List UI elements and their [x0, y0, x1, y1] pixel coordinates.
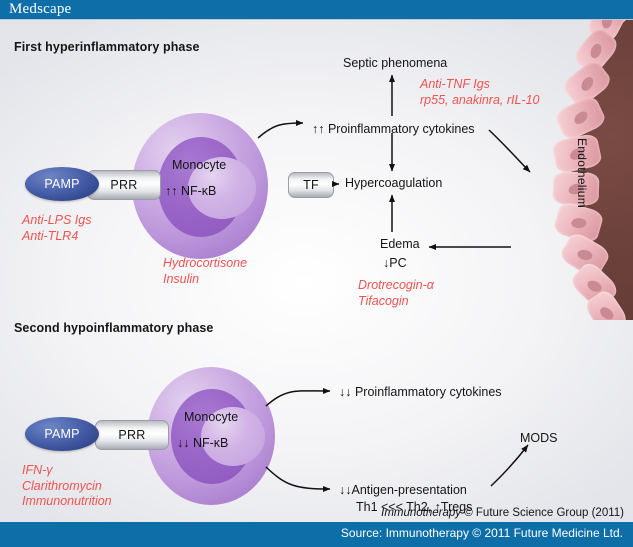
prr-receptor-phase2: PRR [95, 420, 169, 450]
protein-c-node: ↓PC [383, 256, 407, 270]
hypercoagulation-node: Hypercoagulation [345, 176, 442, 190]
tf-tissue-factor: TF [288, 172, 334, 198]
source-text: Source: Immunotherapy © 2011 Future Medi… [341, 526, 623, 540]
diagram-canvas: Endothelium First hyperinflammatory phas… [0, 19, 633, 524]
prr-label: PRR [110, 178, 137, 192]
proinflammatory-cytokines-node-phase1: ↑↑ Proinflammatory cytokines [312, 122, 475, 136]
endothelium-label: Endothelium [575, 138, 589, 208]
mods-node: MODS [520, 431, 558, 445]
medscape-logo: Medscape [9, 1, 71, 18]
medscape-header-bar: Medscape [0, 0, 633, 19]
pamp-label: PAMP [44, 427, 79, 441]
phase1-cytokine-drugs: Anti-TNF Igs rp55, anakinra, rIL-10 [420, 77, 540, 108]
drug-rp55-anakinra-ril10: rp55, anakinra, rIL-10 [420, 93, 540, 109]
phase1-title: First hyperinflammatory phase [14, 40, 200, 54]
septic-phenomena-node: Septic phenomena [343, 56, 447, 70]
drug-immunonutrition: Immunonutrition [22, 494, 112, 510]
drug-ifn-gamma: IFN-γ [22, 463, 112, 479]
phase2-title: Second hypoinflammatory phase [14, 321, 213, 335]
nfkb-label-phase1: ↑↑ NF-κB [165, 184, 216, 198]
pamp-ligand-phase1: PAMP [25, 167, 99, 201]
drug-clarithromycin: Clarithromycin [22, 479, 112, 495]
drug-anti-lps: Anti-LPS Igs [22, 213, 91, 229]
drug-anti-tnf: Anti-TNF Igs [420, 77, 540, 93]
nfkb-label-phase2: ↓↓ NF-κB [177, 436, 228, 450]
proinflammatory-cytokines-node-phase2: ↓↓ Proinflammatory cytokines [339, 385, 502, 399]
drug-drotrecogin: Drotrecogin-α [358, 278, 434, 294]
credit-journal: Immunotherapy [381, 507, 461, 519]
drug-hydrocortisone: Hydrocortisone [163, 256, 247, 272]
pamp-label: PAMP [44, 177, 79, 191]
phase1-edema-drugs: Drotrecogin-α Tifacogin [358, 278, 434, 309]
pamp-ligand-phase2: PAMP [25, 417, 99, 451]
endothelium-vessel: Endothelium [513, 20, 633, 320]
tf-label: TF [303, 178, 319, 192]
monocyte-label-phase2: Monocyte [184, 410, 238, 424]
prr-label: PRR [118, 428, 145, 442]
phase2-receptor-drugs: IFN-γ Clarithromycin Immunonutrition [22, 463, 112, 510]
phase1-cell-drugs: Hydrocortisone Insulin [163, 256, 247, 287]
edema-node: Edema [380, 237, 420, 251]
source-footer-bar: Source: Immunotherapy © 2011 Future Medi… [0, 522, 633, 547]
phase1-receptor-drugs: Anti-LPS Igs Anti-TLR4 [22, 213, 91, 244]
drug-insulin: Insulin [163, 272, 247, 288]
monocyte-label-phase1: Monocyte [172, 158, 226, 172]
figure-page: Medscape Endothelium First hyperinflamma… [0, 0, 633, 547]
drug-tifacogin: Tifacogin [358, 294, 434, 310]
drug-anti-tlr4: Anti-TLR4 [22, 229, 91, 245]
antigen-presentation-node: ↓↓Antigen-presentation [339, 483, 467, 497]
credit-rest: © Future Science Group (2011) [464, 507, 624, 519]
figure-credit: Immunotherapy © Future Science Group (20… [381, 507, 624, 519]
